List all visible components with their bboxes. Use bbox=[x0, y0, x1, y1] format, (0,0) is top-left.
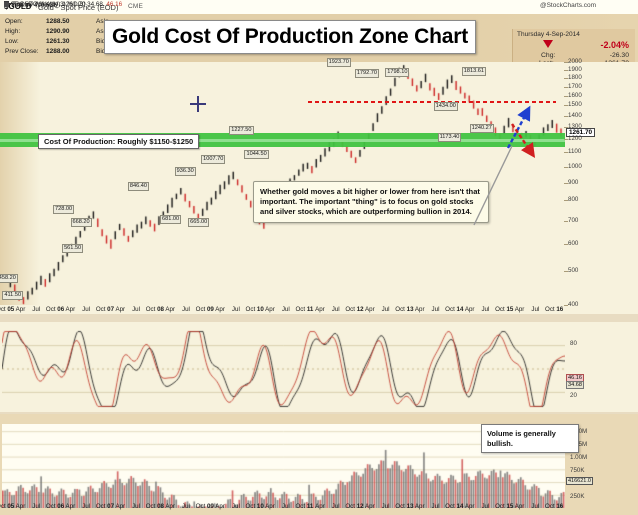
price-tick-mark bbox=[564, 70, 568, 71]
x-tick-apr: Apr bbox=[365, 503, 375, 510]
price-tick-1600: 1600 bbox=[568, 92, 582, 99]
volume-x-axis: Oct 05AprJulOct 06AprJulOct 07AprJulOct … bbox=[0, 503, 638, 515]
price-tick-1900: 1900 bbox=[568, 66, 582, 73]
x-tick-apr: Apr bbox=[315, 306, 325, 313]
x-tick-jul: Jul bbox=[32, 503, 40, 510]
price-point-label: 846.40 bbox=[128, 182, 149, 191]
price-point-label: 681.00 bbox=[160, 215, 181, 224]
legend-swatch-icon bbox=[4, 2, 9, 7]
quote-date: Thursday 4-Sep-2014 bbox=[517, 31, 580, 38]
percent-change: -2.04% bbox=[600, 40, 629, 50]
x-tick-oct-09: Oct 09 bbox=[196, 306, 214, 313]
stochastic-tick-80: 80 bbox=[570, 340, 577, 347]
stochastic-canvas[interactable] bbox=[2, 330, 565, 408]
price-point-label: 1798.10 bbox=[385, 68, 409, 77]
x-tick-apr: Apr bbox=[16, 503, 26, 510]
price-tick-1200: 1200 bbox=[568, 135, 582, 142]
price-point-label: 1007.70 bbox=[201, 155, 225, 164]
x-tick-oct-15: Oct 15 bbox=[495, 306, 513, 313]
price-point-label: 1240.27 bbox=[470, 124, 494, 133]
price-point-label: 668.20 bbox=[71, 218, 92, 227]
price-point-label: 1044.50 bbox=[244, 150, 268, 159]
volume-tick-1.00M: 1.00M bbox=[570, 454, 587, 461]
down-triangle-icon bbox=[543, 40, 553, 48]
x-tick-apr: Apr bbox=[265, 503, 275, 510]
x-tick-apr: Apr bbox=[165, 503, 175, 510]
x-tick-jul: Jul bbox=[132, 503, 140, 510]
x-tick-oct-13: Oct 13 bbox=[395, 503, 413, 510]
prev-close-label: Prev Close: bbox=[5, 48, 39, 55]
price-tick-500: 500 bbox=[568, 267, 578, 274]
open-label: Open: bbox=[5, 18, 23, 25]
x-tick-jul: Jul bbox=[82, 503, 90, 510]
open-value: 1288.50 bbox=[46, 18, 70, 25]
x-tick-oct-11: Oct 11 bbox=[295, 306, 313, 313]
x-tick-jul: Jul bbox=[232, 306, 240, 313]
x-tick-apr: Apr bbox=[415, 503, 425, 510]
x-tick-oct-06: Oct 06 bbox=[46, 306, 64, 313]
x-tick-apr: Apr bbox=[215, 306, 225, 313]
price-tick-2000: 2000 bbox=[568, 58, 582, 65]
price-tick-mark bbox=[564, 96, 568, 97]
x-tick-jul: Jul bbox=[531, 503, 539, 510]
exchange-label: CME bbox=[128, 3, 143, 10]
low-value: 1261.30 bbox=[46, 38, 70, 45]
price-tick-mark bbox=[564, 200, 568, 201]
analysis-callout: Whether gold moves a bit higher or lower… bbox=[253, 181, 489, 223]
price-tick-900: 900 bbox=[568, 179, 578, 186]
x-tick-oct-15: Oct 15 bbox=[495, 503, 513, 510]
price-tick-mark bbox=[564, 305, 568, 306]
x-tick-jul: Jul bbox=[132, 306, 140, 313]
x-tick-oct-07: Oct 07 bbox=[96, 503, 114, 510]
price-tick-1800: 1800 bbox=[568, 74, 582, 81]
x-tick-apr: Apr bbox=[66, 503, 76, 510]
x-tick-jul: Jul bbox=[481, 503, 489, 510]
x-tick-jul: Jul bbox=[32, 306, 40, 313]
price-tick-1400: 1400 bbox=[568, 112, 582, 119]
high-label: High: bbox=[5, 28, 20, 35]
x-tick-oct-10: Oct 10 bbox=[246, 503, 264, 510]
price-tick-mark bbox=[564, 221, 568, 222]
x-tick-oct-05: Oct 05 bbox=[0, 503, 14, 510]
x-tick-oct-09: Oct 09 bbox=[196, 503, 214, 510]
chart-title-text: Gold Cost Of Production Zone Chart bbox=[112, 25, 468, 49]
price-point-label: 1813.61 bbox=[462, 67, 486, 76]
price-tick-400: 400 bbox=[568, 301, 578, 308]
price-tick-mark bbox=[564, 105, 568, 106]
x-tick-apr: Apr bbox=[66, 306, 76, 313]
x-tick-jul: Jul bbox=[82, 306, 90, 313]
x-tick-jul: Jul bbox=[481, 306, 489, 313]
stochastic-legend-d-value: 46.16 bbox=[106, 1, 122, 8]
x-tick-apr: Apr bbox=[515, 503, 525, 510]
x-tick-oct-11: Oct 11 bbox=[295, 503, 313, 510]
low-label: Low: bbox=[5, 38, 19, 45]
price-tick-mark bbox=[564, 116, 568, 117]
x-tick-jul: Jul bbox=[382, 306, 390, 313]
x-tick-jul: Jul bbox=[282, 503, 290, 510]
x-tick-jul: Jul bbox=[432, 503, 440, 510]
price-tick-mark bbox=[564, 78, 568, 79]
price-tick-mark bbox=[564, 152, 568, 153]
chg-value: -26.30 bbox=[610, 52, 629, 59]
price-point-label: 1792.70 bbox=[355, 69, 379, 78]
price-tick-1100: 1100 bbox=[568, 148, 581, 155]
x-tick-jul: Jul bbox=[382, 503, 390, 510]
x-tick-jul: Jul bbox=[182, 503, 190, 510]
x-tick-apr: Apr bbox=[315, 503, 325, 510]
x-tick-apr: Apr bbox=[215, 503, 225, 510]
price-point-label: 1227.50 bbox=[229, 126, 253, 135]
price-point-label: 1923.70 bbox=[327, 58, 351, 67]
high-value: 1290.90 bbox=[46, 28, 70, 35]
price-tick-700: 700 bbox=[568, 217, 578, 224]
price-tick-mark bbox=[564, 183, 568, 184]
price-tick-mark bbox=[564, 244, 568, 245]
price-point-label: 728.00 bbox=[53, 205, 74, 214]
x-tick-oct-14: Oct 14 bbox=[445, 306, 463, 313]
price-point-label: 411.50 bbox=[2, 291, 23, 300]
stockcharts-source-label[interactable]: @StockCharts.com bbox=[540, 2, 596, 9]
x-tick-oct-08: Oct 08 bbox=[146, 503, 164, 510]
stochastic-marker-k: 34.68 bbox=[566, 381, 584, 389]
x-tick-oct-16: Oct 16 bbox=[545, 306, 563, 313]
x-tick-apr: Apr bbox=[115, 306, 125, 313]
x-tick-apr: Apr bbox=[115, 503, 125, 510]
x-tick-apr: Apr bbox=[415, 306, 425, 313]
chart-title-banner: Gold Cost Of Production Zone Chart bbox=[104, 20, 476, 54]
volume-tick-250K: 250K bbox=[570, 493, 584, 500]
volume-callout: Volume is generally bullish. bbox=[481, 424, 579, 453]
x-tick-oct-07: Oct 07 bbox=[96, 306, 114, 313]
price-tick-mark bbox=[564, 139, 568, 140]
chg-label: Chg: bbox=[541, 52, 555, 59]
price-tick-mark bbox=[564, 127, 568, 128]
x-tick-oct-05: Oct 05 bbox=[0, 306, 14, 313]
price-point-label: 1434.00 bbox=[434, 102, 458, 111]
price-point-label: 458.20 bbox=[0, 274, 18, 283]
x-tick-jul: Jul bbox=[282, 306, 290, 313]
x-tick-jul: Jul bbox=[332, 306, 340, 313]
price-x-axis: Oct 05AprJulOct 06AprJulOct 07AprJulOct … bbox=[0, 306, 638, 318]
x-tick-apr: Apr bbox=[165, 306, 175, 313]
price-tick-1500: 1500 bbox=[568, 101, 582, 108]
price-point-label: 1173.40 bbox=[438, 133, 462, 142]
x-tick-apr: Apr bbox=[16, 306, 26, 313]
x-tick-oct-13: Oct 13 bbox=[395, 306, 413, 313]
price-tick-mark bbox=[564, 167, 568, 168]
x-tick-apr: Apr bbox=[365, 306, 375, 313]
price-tick-1000: 1000 bbox=[568, 163, 582, 170]
price-tick-mark bbox=[564, 87, 568, 88]
x-tick-oct-12: Oct 12 bbox=[345, 306, 363, 313]
volume-legend-text: Volume 416,621 bbox=[11, 2, 57, 9]
x-tick-apr: Apr bbox=[515, 306, 525, 313]
price-tick-mark bbox=[564, 62, 568, 63]
x-tick-apr: Apr bbox=[265, 306, 275, 313]
price-point-label: 936.30 bbox=[175, 167, 196, 176]
prev-close-value: 1288.00 bbox=[46, 48, 70, 55]
volume-legend: Volume 416,621 bbox=[4, 2, 57, 9]
price-tick-1300: 1300 bbox=[568, 123, 582, 130]
price-point-label: 561.50 bbox=[62, 244, 83, 253]
volume-axis-marker: 416621.0 bbox=[566, 477, 593, 485]
x-tick-jul: Jul bbox=[531, 306, 539, 313]
volume-tick-750K: 750K bbox=[570, 467, 584, 474]
x-tick-oct-08: Oct 08 bbox=[146, 306, 164, 313]
price-tick-1700: 1700 bbox=[568, 83, 582, 90]
x-tick-oct-12: Oct 12 bbox=[345, 503, 363, 510]
price-tick-800: 800 bbox=[568, 196, 578, 203]
x-tick-jul: Jul bbox=[182, 306, 190, 313]
x-tick-oct-14: Oct 14 bbox=[445, 503, 463, 510]
x-tick-jul: Jul bbox=[332, 503, 340, 510]
price-point-label: 665.00 bbox=[188, 218, 209, 227]
stochastic-tick-20: 20 bbox=[570, 392, 577, 399]
price-tick-mark bbox=[564, 271, 568, 272]
x-tick-oct-16: Oct 16 bbox=[545, 503, 563, 510]
price-tick-600: 600 bbox=[568, 240, 578, 247]
x-tick-jul: Jul bbox=[232, 503, 240, 510]
x-tick-oct-06: Oct 06 bbox=[46, 503, 64, 510]
x-tick-apr: Apr bbox=[465, 306, 475, 313]
x-tick-oct-10: Oct 10 bbox=[246, 306, 264, 313]
x-tick-jul: Jul bbox=[432, 306, 440, 313]
x-tick-apr: Apr bbox=[465, 503, 475, 510]
